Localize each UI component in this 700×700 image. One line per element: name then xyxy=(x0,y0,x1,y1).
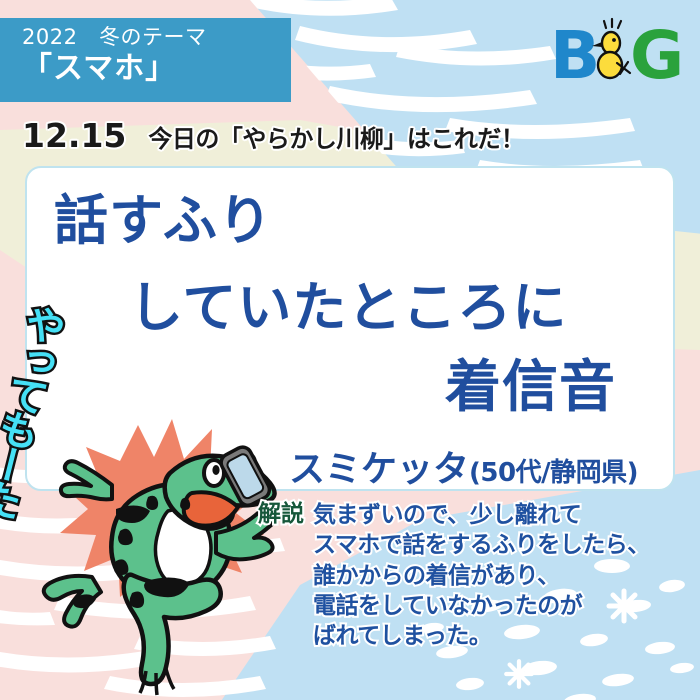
theme-season: 2022 冬のテーマ xyxy=(22,25,291,49)
logo-letter-g: G xyxy=(630,17,684,92)
explanation-text: 気まずいので、少し離れて スマホで話をするふりをしたら、 誰かからの着信があり、… xyxy=(313,500,650,652)
author-pen-name: スミケッタ xyxy=(289,449,469,490)
explanation-line: ばれてしまった。 xyxy=(313,621,650,651)
theme-title: 「スマホ」 xyxy=(22,50,291,88)
explanation-line: スマホで話をするふりをしたら、 xyxy=(313,530,650,560)
explanation-block: 解説 気まずいので、少し離れて スマホで話をするふりをしたら、 誰かからの着信が… xyxy=(258,500,650,652)
explanation-line: 誰かからの着信があり、 xyxy=(313,561,650,591)
poem-line-2: していたところに xyxy=(129,281,567,335)
explanation-line: 気まずいので、少し離れて xyxy=(313,500,650,530)
poem-author: スミケッタ(50代/静岡県) xyxy=(289,440,638,492)
date-caption: 今日の「やらかし川柳」はこれだ！ xyxy=(148,119,524,154)
theme-banner: 2022 冬のテーマ 「スマホ」 xyxy=(0,18,291,102)
senryu-poster: 2022 冬のテーマ 「スマホ」 B G xyxy=(0,0,700,700)
poem-line-1: 話すふり xyxy=(54,194,273,248)
logo-letter-b: B xyxy=(550,17,600,92)
poem-line-3: 着信音 xyxy=(445,360,616,416)
date-row: 12.15 今日の「やらかし川柳」はこれだ！ xyxy=(22,116,524,155)
explanation-label: 解説 xyxy=(258,500,304,529)
post-date: 12.15 xyxy=(22,116,126,155)
bg-logo[interactable]: B G xyxy=(548,16,684,96)
frog-pupil xyxy=(212,465,219,475)
author-meta: (50代/静岡県) xyxy=(469,458,638,488)
explanation-line: 電話をしていなかったのが xyxy=(313,591,650,621)
